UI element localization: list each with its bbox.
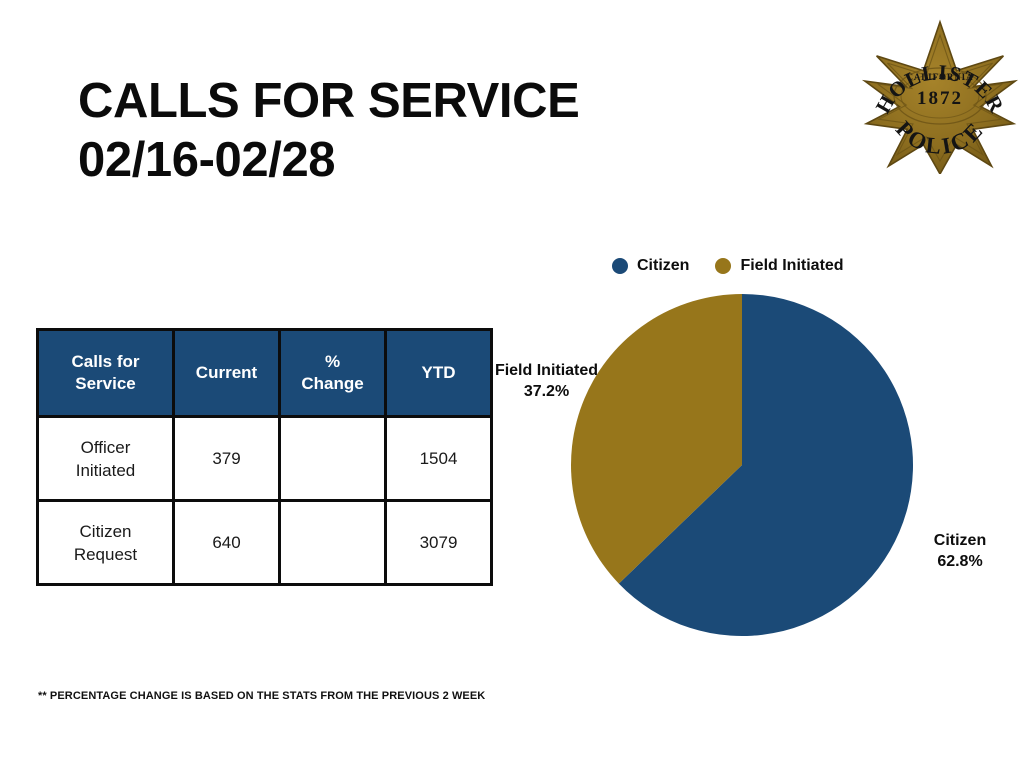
legend-swatch-field-initiated-icon xyxy=(715,258,731,274)
row-label-citizen-request: Citizen Request xyxy=(38,501,174,585)
pie-label-field-initiated: Field Initiated 37.2% xyxy=(479,360,614,402)
table-row: Citizen Request 640 3079 xyxy=(38,501,492,585)
pie-label-citizen-percent: 62.8% xyxy=(908,551,1012,572)
badge-year-text: 1872 xyxy=(917,88,963,109)
badge-icon: HOLLISTER CALIFORNIA 1872 POLICE xyxy=(861,16,1019,174)
pie-label-field-initiated-percent: 37.2% xyxy=(479,381,614,402)
cell-officer-current: 379 xyxy=(174,417,280,501)
cell-citizen-current: 640 xyxy=(174,501,280,585)
slide-canvas: CALLS FOR SERVICE 02/16-02/28 xyxy=(0,0,1024,768)
pie-label-field-initiated-name: Field Initiated xyxy=(479,360,614,381)
badge-state-text: CALIFORNIA xyxy=(906,72,973,82)
column-header-percent-change: % Change xyxy=(280,330,386,417)
table-row: Officer Initiated 379 1504 xyxy=(38,417,492,501)
legend-item-field-initiated: Field Initiated xyxy=(715,257,843,275)
calls-for-service-pie-chart: Citizen Field Initiated Field Initiated … xyxy=(460,240,1024,660)
title-line-2: 02/16-02/28 xyxy=(78,131,698,190)
table-header-row: Calls for Service Current % Change YTD xyxy=(38,330,492,417)
chart-legend: Citizen Field Initiated xyxy=(612,257,844,275)
legend-swatch-citizen-icon xyxy=(612,258,628,274)
calls-for-service-table: Calls for Service Current % Change YTD O… xyxy=(36,328,493,586)
row-label-officer-initiated: Officer Initiated xyxy=(38,417,174,501)
legend-label-field-initiated: Field Initiated xyxy=(740,257,843,275)
column-header-current: Current xyxy=(174,330,280,417)
pie-label-citizen: Citizen 62.8% xyxy=(908,530,1012,572)
column-header-calls-for-service: Calls for Service xyxy=(38,330,174,417)
footnote-text: ** PERCENTAGE CHANGE IS BASED ON THE STA… xyxy=(38,690,485,702)
pie-label-citizen-name: Citizen xyxy=(908,530,1012,551)
hollister-police-badge-logo: HOLLISTER CALIFORNIA 1872 POLICE xyxy=(861,16,1019,174)
legend-item-citizen: Citizen xyxy=(612,257,689,275)
page-title: CALLS FOR SERVICE 02/16-02/28 xyxy=(78,72,698,190)
legend-label-citizen: Citizen xyxy=(637,257,689,275)
pie-svg xyxy=(570,293,914,637)
title-line-1: CALLS FOR SERVICE xyxy=(78,72,698,131)
cell-citizen-pct-change xyxy=(280,501,386,585)
cell-officer-pct-change xyxy=(280,417,386,501)
